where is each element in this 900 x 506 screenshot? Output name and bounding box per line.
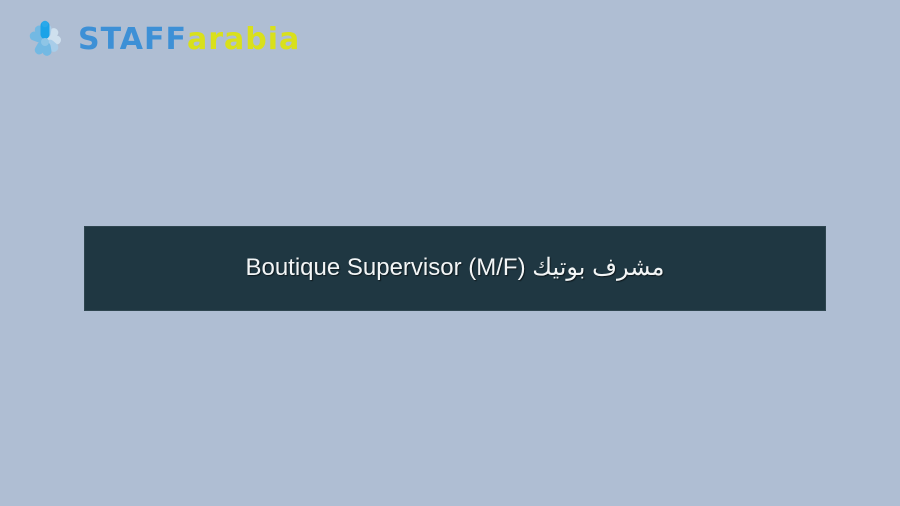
job-title-text: Boutique Supervisor (M/F) مشرف بوتيك [245,254,664,283]
pinwheel-snowflake-icon [22,17,68,63]
job-title-banner: Boutique Supervisor (M/F) مشرف بوتيك [84,226,826,311]
job-banner-page: STAFFarabia Boutique Supervisor (M/F) مش… [0,0,900,506]
brand-wordmark: STAFFarabia [78,25,300,55]
brand-word-arabia: arabia [187,25,300,55]
brand-word-staff: STAFF [78,25,187,55]
brand-logo[interactable]: STAFFarabia [22,16,300,64]
